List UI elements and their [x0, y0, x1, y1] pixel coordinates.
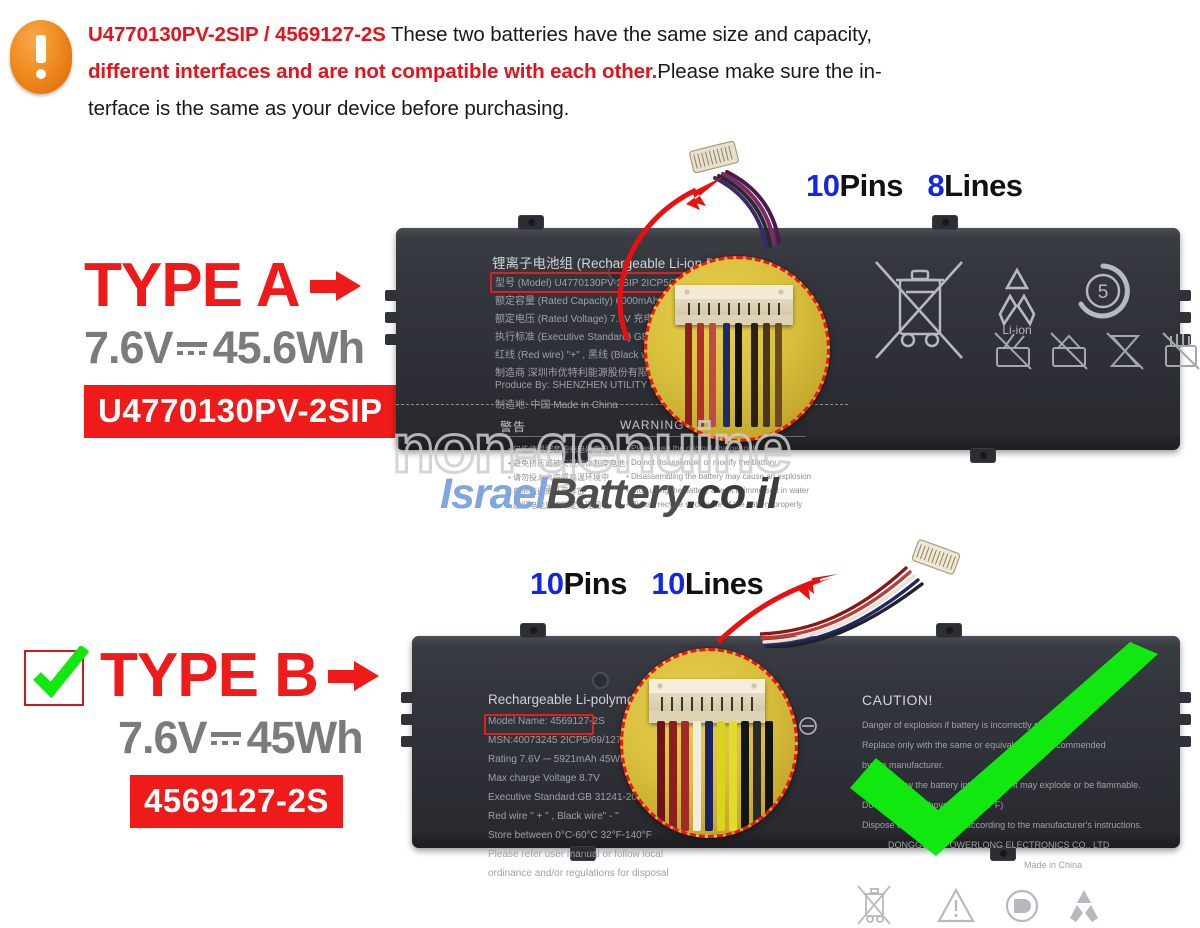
type-a-wire-6 [751, 323, 758, 427]
type-b-connector-magnifier [620, 648, 798, 838]
type-b-wire-9 [753, 721, 761, 831]
type-b-wire-1 [657, 721, 665, 831]
battery-b-row-6: Store between 0°C-60°C 32°F-140°F [488, 830, 652, 841]
type-a-spec-row: 7.6V 45.6Wh [84, 323, 397, 373]
battery-b-caution-head: CAUTION! [862, 692, 933, 708]
no-sharp-object-icon [992, 330, 1034, 372]
battery-a-bullet-en-4: Please recycle or dispose of the battery… [626, 500, 802, 509]
notice-plain-3: terface is the same as your device befor… [88, 97, 569, 120]
recycle-icon: Li-ion [986, 262, 1048, 336]
battery-a-tab-left-2 [385, 312, 398, 323]
recycle-icon [1064, 886, 1104, 926]
circle-number: 5 [1098, 282, 1109, 303]
battery-b-row-3: Max charge Voltage 8.7V [488, 773, 600, 784]
checked-checkbox-icon [24, 650, 84, 706]
warning-exclamation-icon [10, 20, 72, 94]
battery-a-connector-head [689, 141, 739, 173]
type-a-connector-housing [675, 285, 793, 325]
type-b-lines-count: 10 [651, 566, 684, 601]
type-a-pins-count: 10 [806, 168, 839, 203]
type-b-connector-pins [649, 679, 765, 723]
battery-comparison-page: U4770130PV-2SIP / 4569127-2S These two b… [0, 0, 1200, 900]
type-b-model-chip: 4569127-2S [130, 775, 343, 828]
battery-b-tab-right-1 [1178, 692, 1191, 703]
type-a-wire-5 [735, 323, 742, 427]
type-a-wire-4 [723, 323, 730, 427]
battery-b-row-0: Model Name: 4569127-2S [488, 716, 605, 727]
dc-current-icon [209, 727, 245, 749]
battery-b-caution-4: Do not heat up above 60°C (140°F) [862, 800, 1003, 810]
type-b-title: TYPE B [100, 645, 318, 707]
no-heat-icon [1104, 330, 1146, 372]
no-fire-icon [1160, 330, 1200, 372]
type-a-connector-pins [675, 285, 793, 325]
battery-b-tab-left-2 [401, 714, 414, 725]
type-b-legend: TYPE B 7.6V 45Wh 4569127-2S [100, 645, 380, 828]
type-a-capacity: 45.6Wh [213, 323, 365, 373]
notice-incompatible-warning: different interfaces and are not compati… [88, 60, 657, 83]
battery-b-row-1: MSN:40073245 2ICP5/69/127 [488, 735, 621, 746]
battery-b-row-2: Rating 7.6V ⎓ 5921mAh 45Wh [488, 754, 626, 765]
battery-b-caution-6: DONGGUAN POWERLONG ELECTRONICS CO., LTD [888, 840, 1109, 850]
battery-b-row-8: ordinance and/or regulations for disposa… [488, 868, 669, 879]
battery-a-lug-top-left [518, 215, 544, 230]
battery-b-row-4: Executive Standard:GB 31241-2014 [488, 792, 648, 803]
battery-b-screw-hole [592, 672, 609, 689]
type-b-wire-6 [717, 721, 725, 831]
green-tick-icon [29, 646, 89, 702]
battery-a-tab-left-3 [385, 334, 398, 345]
crossed-out-wheelie-bin-icon [856, 884, 892, 928]
type-b-wire-4 [693, 721, 701, 831]
type-a-wire-1 [685, 323, 692, 427]
battery-a-tab-right-1 [1178, 290, 1191, 301]
warning-triangle-icon [936, 886, 976, 926]
type-a-model-chip: U4770130PV-2SIP [84, 385, 397, 438]
crossed-out-wheelie-bin-icon [874, 258, 964, 370]
notice-banner: U4770130PV-2SIP / 4569127-2S These two b… [0, 0, 1200, 128]
type-b-title-row: TYPE B [100, 645, 380, 707]
type-b-pins-word: Pins [563, 566, 626, 601]
type-a-connector-magnifier [644, 256, 830, 442]
type-a-pins-word: Pins [839, 168, 902, 203]
battery-a-bullet-cn-3: 电池请远离儿童存放 [508, 486, 585, 497]
notice-model-pair: U4770130PV-2SIP / 4569127-2S [88, 23, 386, 46]
type-b-wire-10 [765, 721, 773, 831]
type-a-wire-8 [775, 323, 782, 427]
type-b-wire-7 [729, 721, 737, 831]
type-a-title: TYPE A [84, 255, 300, 317]
battery-a-tab-left-1 [385, 290, 398, 301]
battery-b-caution-2: by the manufacturer. [862, 760, 944, 770]
read-manual-icon [1002, 886, 1042, 926]
battery-b-lug-top-right [936, 623, 962, 638]
type-b-spec-row: 7.6V 45Wh [118, 713, 380, 763]
type-a-wire-2 [697, 323, 704, 427]
battery-b-connector-head [912, 539, 961, 575]
no-crush-icon [1048, 330, 1090, 372]
type-a-wire-7 [763, 323, 770, 427]
battery-b-row-7: Please refer user manual or follow local [488, 849, 663, 860]
battery-b-tab-left-1 [401, 692, 414, 703]
battery-b-caution-3: Do not throw the battery into a fire, or… [862, 780, 1141, 790]
polarity-minus-icon [798, 716, 818, 736]
type-b-wire-5 [705, 721, 713, 831]
type-b-wire-2 [669, 721, 677, 831]
type-b-wire-8 [741, 721, 749, 831]
battery-a-bullet-cn-1: 避免挤压或被尖锐物体刺穿电池 [508, 458, 625, 469]
type-a-lines-count: 8 [927, 168, 944, 203]
notice-plain-1: These two batteries have the same size a… [386, 23, 872, 46]
battery-b-tab-right-2 [1178, 714, 1191, 725]
dc-current-icon [175, 337, 211, 359]
battery-b-lug-top-left [520, 623, 546, 638]
arrow-right-icon [310, 271, 362, 301]
battery-a-bullet-cn-4: 废旧电池应按规定处理回收 [508, 500, 609, 511]
battery-a-lug-top-right [932, 215, 958, 230]
type-b-lines-word: Lines [685, 566, 763, 601]
battery-b-caution-1: Replace only with the same or equivalent… [862, 740, 1106, 750]
type-b-pins-lines-label: 10Pins 10Lines [530, 566, 763, 602]
battery-a-top-edge [396, 228, 1180, 240]
battery-b-tab-left-3 [401, 736, 414, 747]
battery-b-caution-0: Danger of explosion if battery is incorr… [862, 720, 1071, 730]
battery-b-row-5: Red wire " + " , Black wire" - " [488, 811, 619, 822]
type-a-lines-word: Lines [944, 168, 1022, 203]
type-b-wire-3 [681, 721, 689, 831]
battery-a-bullet-en-2: Disassembling the battery may cause an e… [626, 472, 811, 481]
notice-text: U4770130PV-2SIP / 4569127-2S These two b… [88, 16, 1163, 127]
battery-b-caution-5: Dispose of used batteries according to t… [862, 820, 1142, 830]
type-a-legend: TYPE A 7.6V 45.6Wh U4770130PV-2SIP [84, 255, 397, 438]
battery-a-bullet-en-3: Stop using the battery after it is immer… [626, 486, 809, 495]
type-a-title-row: TYPE A [84, 255, 397, 317]
battery-a-row-5: 制造商 深圳市优特利能源股份有限公司 [495, 364, 668, 379]
type-a-pins-lines-label: 10Pins 8Lines [806, 168, 1023, 204]
type-a-wire-3 [709, 323, 716, 427]
battery-a-lug-bottom-right [970, 448, 996, 463]
battery-a-bullet-cn-2: 请勿投入火中或高温环境中 [508, 472, 609, 483]
notice-plain-2: Please make sure the in- [657, 60, 881, 83]
battery-b-caution-7: Made in China [1024, 860, 1082, 870]
type-b-voltage: 7.6V [118, 713, 207, 763]
arrow-right-icon [328, 661, 380, 691]
type-b-pins-count: 10 [530, 566, 563, 601]
type-b-connector-housing [649, 679, 765, 723]
type-b-capacity: 45Wh [247, 713, 363, 763]
circle-5-icon: 5 [1072, 260, 1134, 322]
type-a-voltage: 7.6V [84, 323, 173, 373]
battery-a-bullet-en-1: Do not disassemble or modify the battery [626, 458, 776, 467]
battery-a-tab-right-2 [1178, 312, 1191, 323]
battery-b-tab-right-3 [1178, 736, 1191, 747]
